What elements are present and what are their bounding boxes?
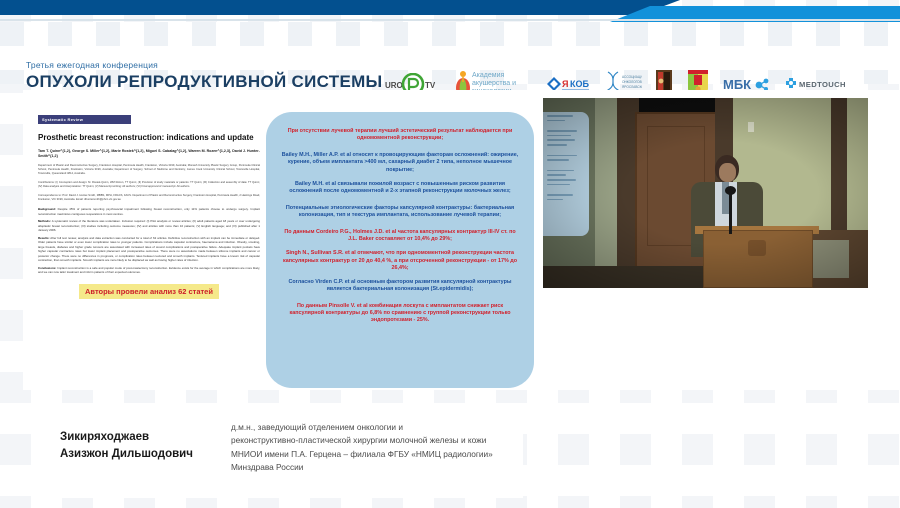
speaker-description: д.м.н., заведующий отделением онкологии …	[231, 421, 516, 475]
svg-text:КОБ: КОБ	[570, 79, 589, 89]
article-highlight-note-wrap: Авторы провели анализ 62 статей	[38, 281, 260, 299]
article-abstract-conclusions: Conclusions: Implant reconstruction is a…	[38, 266, 260, 275]
speaker-desc-line4: Минздрава России	[231, 461, 516, 474]
article-section-tag: Systematic Review	[38, 115, 131, 124]
speaker-info-card: Зикиряходжаев Азизжон Дильшодович д.м.н.…	[38, 412, 523, 498]
ribbon-navy-shape	[0, 0, 680, 15]
svg-text:URO: URO	[385, 81, 403, 90]
summary-paragraph-5: По данным Cordeiro P.G., Holmes J.D. et …	[280, 229, 520, 243]
summary-paragraph-4: Потенциальные этиологические факторы кап…	[280, 205, 520, 219]
summary-paragraph-8: По данным Pinsolle V. et al комбинация л…	[280, 303, 520, 324]
abstract-conclusions-text: Implant reconstruction is a safe and pop…	[38, 266, 260, 275]
article-title: Prosthetic breast reconstruction: indica…	[38, 133, 260, 143]
speaker-desc-line2: реконструктивно-пластической хирургии мо…	[231, 434, 516, 447]
abstract-results-label: Results:	[38, 236, 49, 240]
abstract-background-label: Background:	[38, 207, 56, 211]
journal-article-page: Systematic Review Prosthetic breast reco…	[38, 108, 260, 383]
article-abstract-background: Background: Despite 45% of patients repo…	[38, 207, 260, 216]
svg-text:Я: Я	[562, 79, 568, 89]
abstract-background-text: Despite 45% of patients reporting psycho…	[38, 207, 260, 216]
abstract-methods-label: Methods:	[38, 219, 51, 223]
summary-paragraph-6: Singh N., Sullivan S.R. et al отмечают, …	[280, 250, 520, 271]
article-abstract-methods: Methods: A systematic review of the lite…	[38, 219, 260, 233]
speaker-name-line2: Азизжон Дильшодович	[60, 446, 225, 463]
speaker-name-line1: Зикиряходжаев	[60, 429, 225, 446]
article-contributions: Contributions: (I) Conception and design…	[38, 181, 260, 189]
svg-text:ОНКОЛОГОВ: ОНКОЛОГОВ	[622, 80, 642, 84]
article-abstract-results: Results: After full text review, analysi…	[38, 236, 260, 263]
summary-paragraph-2: Bailey M.H., Miller A.P. et al относят к…	[280, 152, 520, 173]
ribbon-divider	[0, 19, 900, 21]
conference-title-block: Третья ежегодная конференция ОПУХОЛИ РЕП…	[26, 60, 383, 92]
abstract-methods-text: A systematic review of the literature wa…	[38, 219, 260, 232]
abstract-results-text: After full text review, analysis and dat…	[38, 236, 260, 263]
conference-title: ОПУХОЛИ РЕПРОДУКТИВНОЙ СИСТЕМЫ	[26, 72, 383, 92]
article-authors: Tam T. Quinn^{1,2}, George S. Miller^{1,…	[38, 149, 260, 160]
article-affiliations: Department of Plastic and Reconstructive…	[38, 164, 260, 176]
article-correspondence: Correspondence to: Prof. David J. Hunter…	[38, 194, 260, 202]
article-highlight-note: Авторы провели анализ 62 статей	[79, 284, 219, 299]
svg-text:TV: TV	[425, 81, 436, 90]
speaker-desc-line1: д.м.н., заведующий отделением онкологии …	[231, 421, 516, 434]
live-speaker-video[interactable]	[543, 98, 868, 288]
speaker-name: Зикиряходжаев Азизжон Дильшодович	[60, 429, 225, 462]
summary-paragraph-3: Bailey M.H. et al связывали пожилой возр…	[280, 181, 520, 195]
svg-text:MEDTOUCH: MEDTOUCH	[799, 80, 846, 89]
summary-blue-box: При отсутствии лучевой терапии лучший эс…	[266, 112, 534, 388]
svg-text:АССОЦИАЦИЯ: АССОЦИАЦИЯ	[622, 75, 642, 79]
abstract-conclusions-label: Conclusions:	[38, 266, 56, 270]
speaker-desc-line3: МНИОИ имени П.А. Герцена – филиала ФГБУ …	[231, 448, 516, 461]
svg-text:ЯРОСЛАВСКОЙ: ЯРОСЛАВСКОЙ	[622, 85, 642, 89]
summary-paragraph-1: При отсутствии лучевой терапии лучший эс…	[280, 128, 520, 142]
summary-paragraph-7: Согласно Virden C.P. et al основным факт…	[280, 279, 520, 293]
video-vignette	[543, 98, 868, 288]
top-ribbon	[0, 0, 900, 22]
conference-subtitle: Третья ежегодная конференция	[26, 60, 383, 70]
conference-header: Третья ежегодная конференция ОПУХОЛИ РЕП…	[0, 22, 900, 84]
